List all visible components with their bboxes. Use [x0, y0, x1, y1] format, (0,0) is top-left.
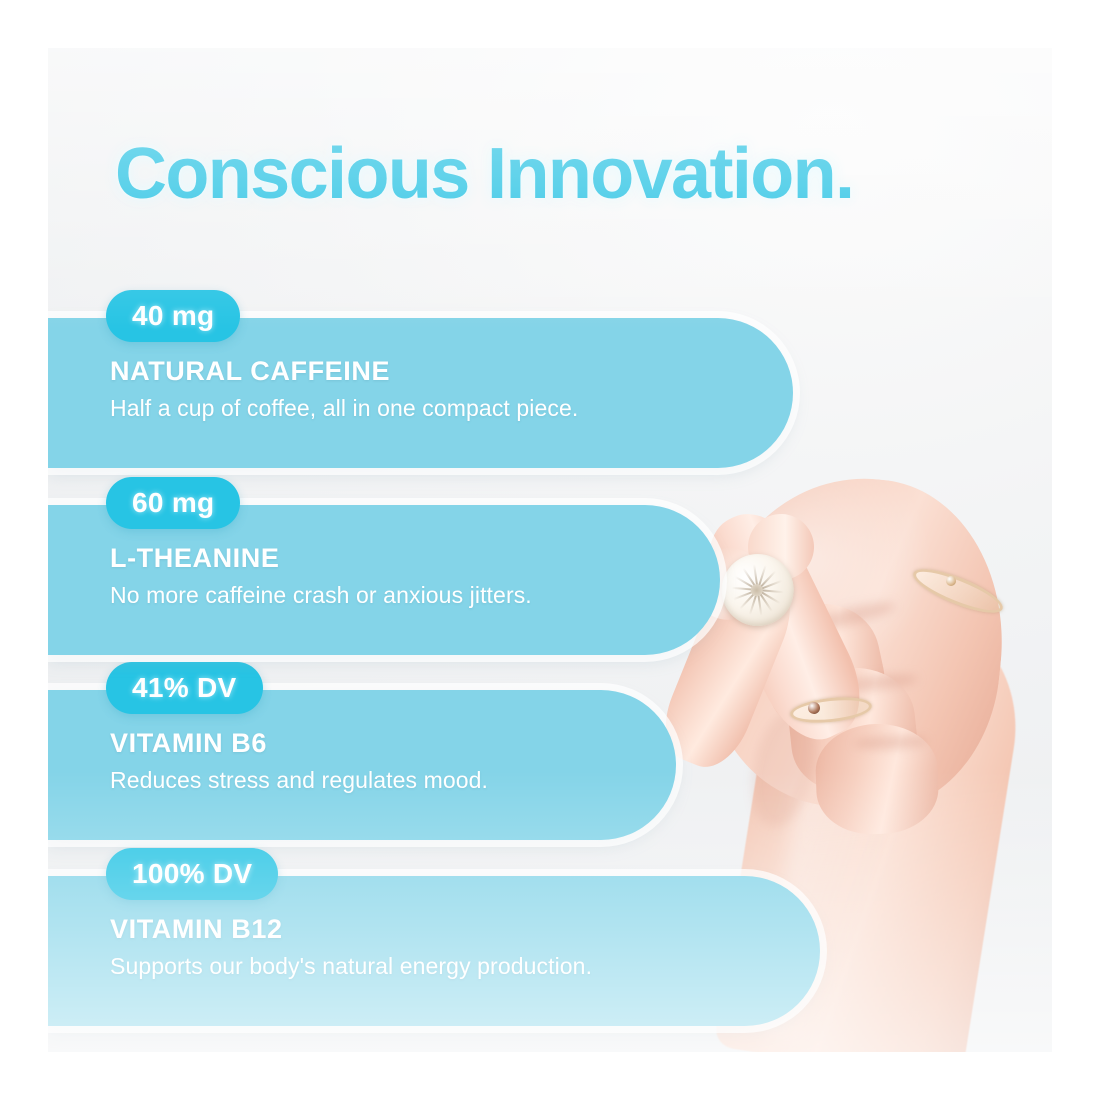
- dosage-badge-label: 100% DV: [132, 858, 252, 890]
- ingredient-name: L-THEANINE: [110, 543, 532, 573]
- dosage-badge-label: 60 mg: [132, 487, 214, 519]
- ingredient-description: No more caffeine crash or anxious jitter…: [110, 582, 532, 609]
- ingredient-name: VITAMIN B6: [110, 728, 488, 758]
- ingredient-text: VITAMIN B6 Reduces stress and regulates …: [110, 728, 488, 794]
- ingredient-name: NATURAL CAFFEINE: [110, 356, 578, 386]
- dosage-badge: 100% DV: [106, 848, 278, 900]
- ingredient-description: Half a cup of coffee, all in one compact…: [110, 395, 578, 422]
- page-title: Conscious Innovation.: [115, 133, 853, 215]
- ingredient-text: L-THEANINE No more caffeine crash or anx…: [110, 543, 532, 609]
- dosage-badge: 40 mg: [106, 290, 240, 342]
- ingredient-description: Reduces stress and regulates mood.: [110, 767, 488, 794]
- ingredient-text: NATURAL CAFFEINE Half a cup of coffee, a…: [110, 356, 578, 422]
- ingredient-description: Supports our body's natural energy produ…: [110, 953, 592, 980]
- product-graphic-canvas: Conscious Innovation. 40 mg NATURAL CAFF…: [48, 48, 1052, 1052]
- dosage-badge-label: 41% DV: [132, 672, 237, 704]
- ingredient-text: VITAMIN B12 Supports our body's natural …: [110, 914, 592, 980]
- image-frame: Conscious Innovation. 40 mg NATURAL CAFF…: [0, 0, 1100, 1100]
- dosage-badge-label: 40 mg: [132, 300, 214, 332]
- dosage-badge: 41% DV: [106, 662, 263, 714]
- ingredient-name: VITAMIN B12: [110, 914, 592, 944]
- dosage-badge: 60 mg: [106, 477, 240, 529]
